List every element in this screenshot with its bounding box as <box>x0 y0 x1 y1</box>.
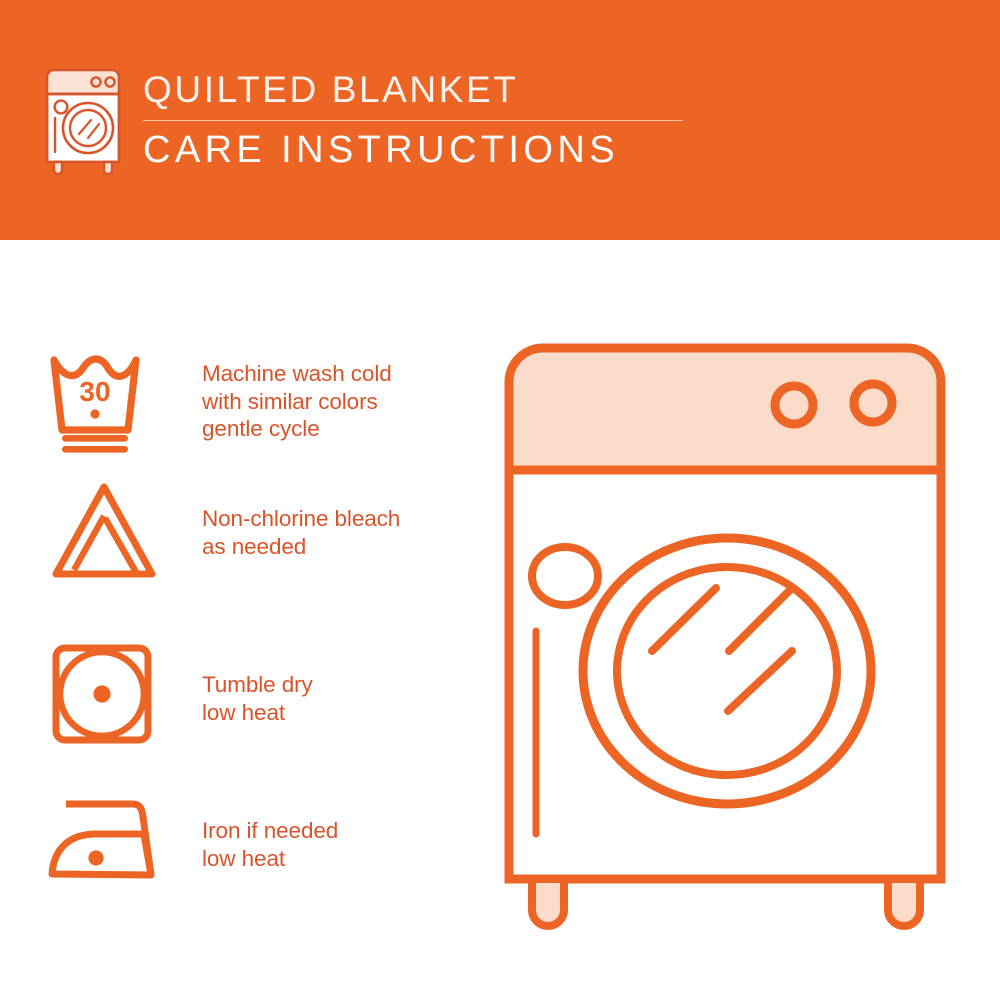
bleach-triangle-icon <box>48 482 160 586</box>
care-label-non-chlorine-bleach: Non-chlorine bleach as needed <box>160 482 400 560</box>
wash-temperature-value: 30 <box>79 376 110 407</box>
page-title-primary: QUILTED BLANKET <box>143 68 743 112</box>
wash-dot-icon <box>90 409 99 418</box>
page-title-secondary: CARE INSTRUCTIONS <box>143 127 743 173</box>
iron-dot-icon <box>88 850 103 865</box>
machine-foot <box>888 879 920 926</box>
washing-machine-icon <box>44 66 130 174</box>
care-label-line: low heat <box>202 699 313 727</box>
care-row-tumble-dry: Tumble dry low heat <box>48 642 478 746</box>
care-label-line: as needed <box>202 533 400 561</box>
machine-body <box>509 429 941 879</box>
care-label-iron: Iron if needed low heat <box>160 792 338 872</box>
care-row-machine-wash: 30 Machine wash cold with similar colors… <box>48 352 478 456</box>
care-label-machine-wash: Machine wash cold with similar colors ge… <box>160 352 392 443</box>
title-divider <box>143 120 683 121</box>
care-instructions-page: QUILTED BLANKET CARE INSTRUCTIONS 30 Mac… <box>0 0 1000 1000</box>
care-label-line: low heat <box>202 845 338 873</box>
header-banner: QUILTED BLANKET CARE INSTRUCTIONS <box>0 0 1000 240</box>
care-label-line: Iron if needed <box>202 817 338 845</box>
care-label-line: Non-chlorine bleach <box>202 505 400 533</box>
care-row-non-chlorine-bleach: Non-chlorine bleach as needed <box>48 482 478 586</box>
machine-knob <box>854 384 892 422</box>
iron-low-icon <box>48 792 160 896</box>
washing-machine-illustration <box>492 334 958 934</box>
care-label-tumble-dry: Tumble dry low heat <box>160 642 313 726</box>
machine-knob <box>775 386 813 424</box>
header-title-block: QUILTED BLANKET CARE INSTRUCTIONS <box>143 68 743 173</box>
care-label-line: Tumble dry <box>202 671 313 699</box>
care-label-line: gentle cycle <box>202 415 392 443</box>
machine-foot <box>532 879 564 926</box>
wash-tub-30-icon: 30 <box>48 352 160 456</box>
care-row-iron: Iron if needed low heat <box>48 792 478 896</box>
tumble-dry-low-icon <box>48 642 160 746</box>
care-label-line: with similar colors <box>202 388 392 416</box>
tumble-dry-dot-icon <box>93 685 110 702</box>
care-label-line: Machine wash cold <box>202 360 392 388</box>
